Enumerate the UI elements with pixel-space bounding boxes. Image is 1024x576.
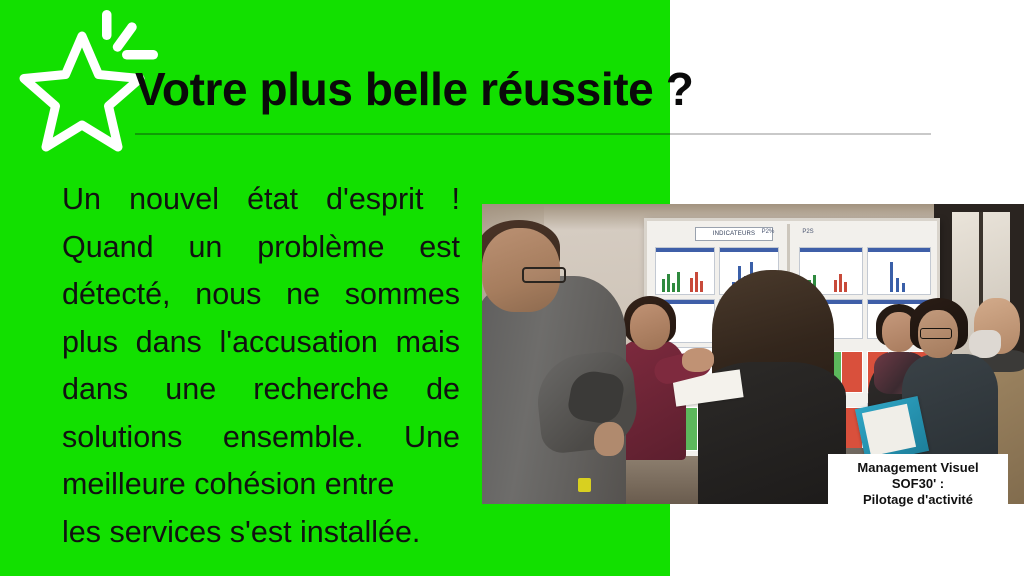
page-title: Votre plus belle réussite ? <box>135 66 675 112</box>
title-divider-rule-green-segment <box>135 133 670 135</box>
photo-caption-line-2: Pilotage d'activité <box>834 492 1002 508</box>
body-paragraph-text: Un nouvel état d'esprit ! Quand un probl… <box>62 182 460 501</box>
photo-person-hand <box>682 348 714 372</box>
photo-person-glasses <box>920 328 952 339</box>
photo-caption-line-1: Management Visuel SOF30' : <box>834 460 1002 492</box>
slide-canvas: Votre plus belle réussite ? Un nouvel ét… <box>0 0 1024 576</box>
board-tag-right: P2S <box>793 227 823 237</box>
board-chart-card <box>867 247 931 295</box>
body-paragraph-last-line: les services s'est installée. <box>62 509 460 557</box>
photo-person-hand <box>594 422 624 456</box>
body-paragraph: Un nouvel état d'esprit ! Quand un probl… <box>62 176 460 556</box>
board-chart-card <box>655 247 715 295</box>
board-tag-left: P2% <box>753 227 783 237</box>
photo-caption: Management Visuel SOF30' : Pilotage d'ac… <box>828 454 1008 515</box>
photo-person-beard <box>969 330 1001 358</box>
photo-person-glasses <box>522 267 566 283</box>
photo-person-head <box>630 304 670 350</box>
photo-yellow-badge <box>578 478 591 492</box>
photo-folder-page <box>862 404 916 457</box>
